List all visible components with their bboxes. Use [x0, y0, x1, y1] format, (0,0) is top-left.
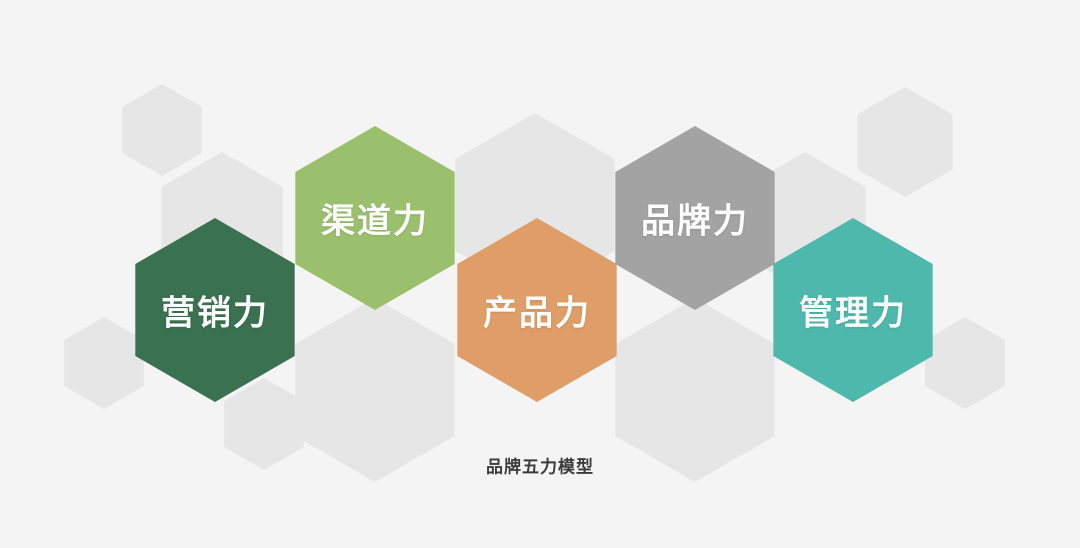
- brand-five-forces-diagram: 营销力渠道力产品力品牌力管理力 品牌五力模型: [0, 0, 1080, 548]
- diagram-caption: 品牌五力模型: [486, 453, 594, 478]
